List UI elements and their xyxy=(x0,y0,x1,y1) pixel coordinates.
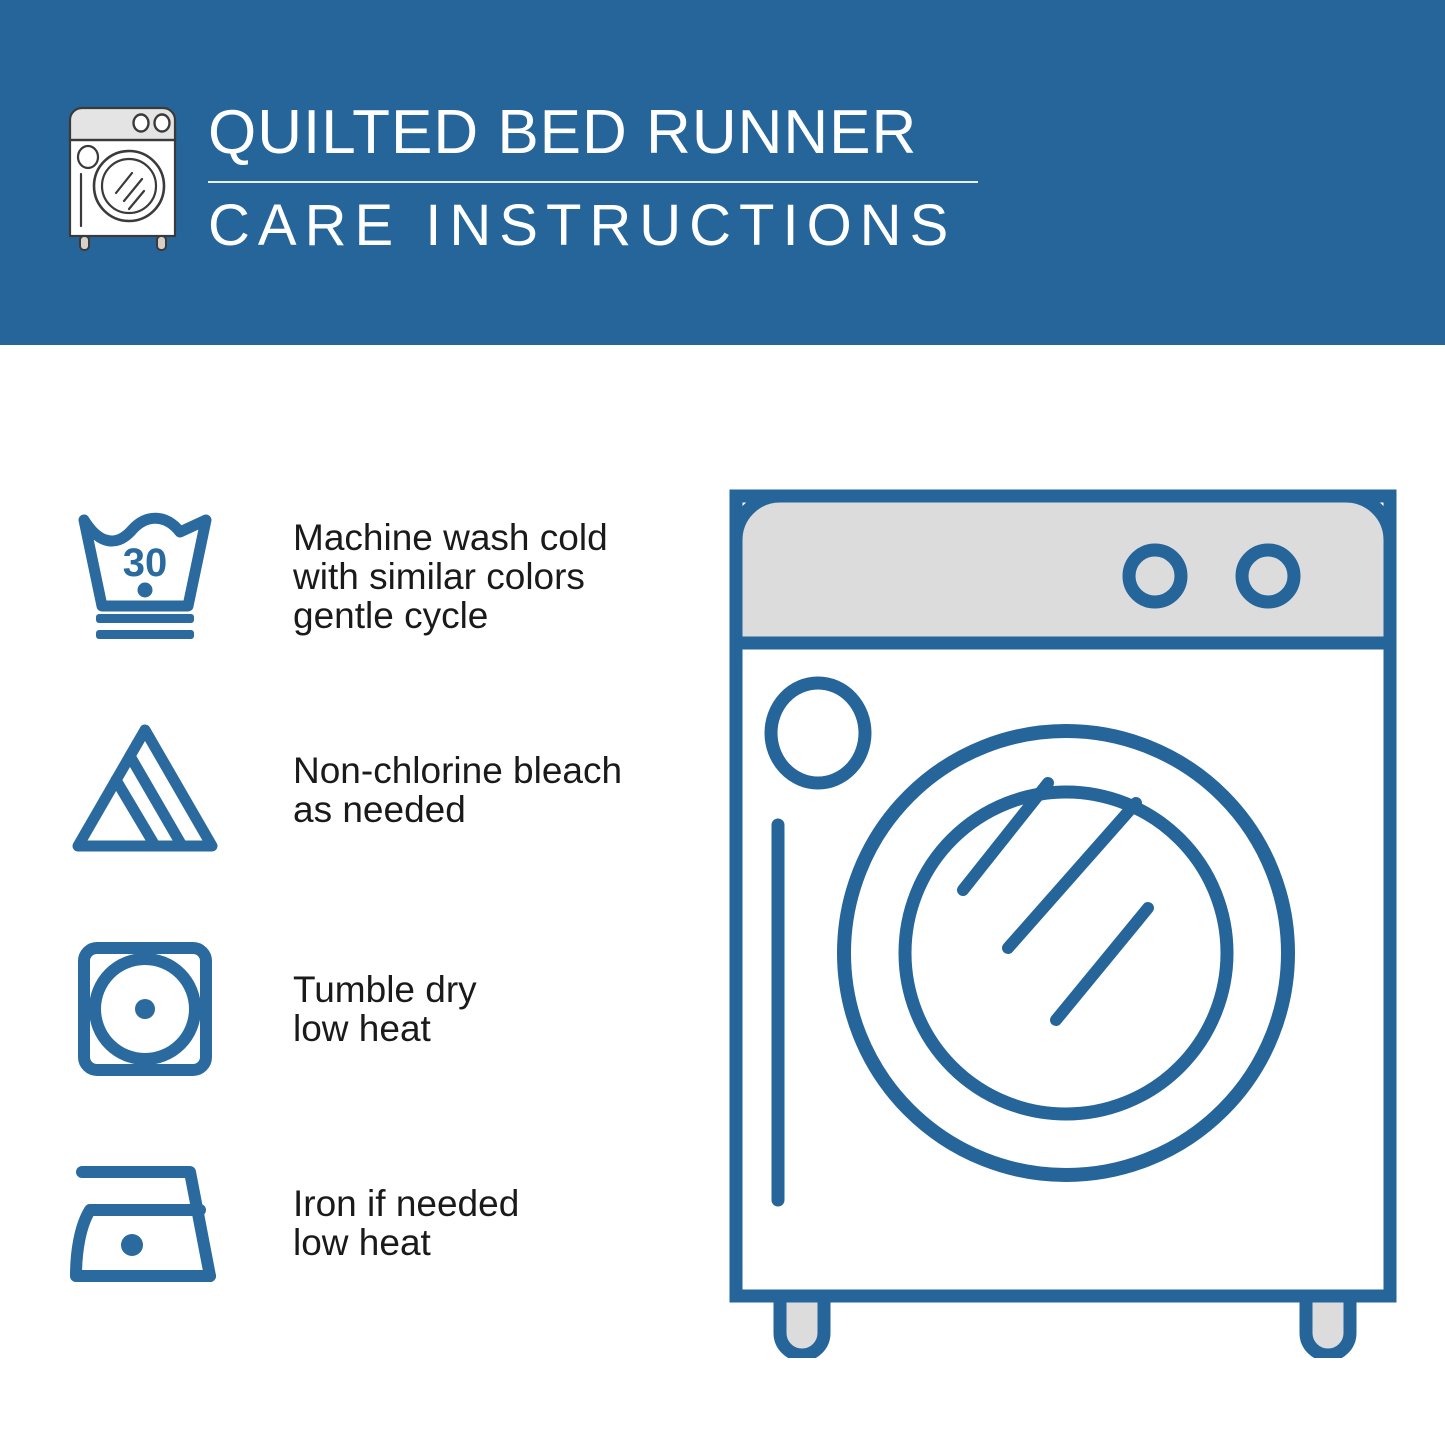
knob-right xyxy=(1242,550,1294,602)
care-instructions-infographic: QUILTED BED RUNNER CARE INSTRUCTIONS 30 … xyxy=(0,0,1445,1445)
header-band: QUILTED BED RUNNER CARE INSTRUCTIONS xyxy=(0,0,1445,345)
title-divider xyxy=(208,181,978,183)
care-line: gentle cycle xyxy=(293,596,608,635)
care-line: Tumble dry xyxy=(293,970,477,1009)
care-text-iron: Iron if needed low heat xyxy=(293,1148,519,1262)
washing-machine-icon xyxy=(62,98,192,258)
care-row-machine-wash: 30 Machine wash cold with similar colors… xyxy=(70,498,630,648)
care-row-iron: Iron if needed low heat xyxy=(70,1148,630,1298)
front-load-washing-machine-illustration xyxy=(718,478,1408,1358)
page-title: QUILTED BED RUNNER xyxy=(208,95,998,171)
care-line: low heat xyxy=(293,1009,477,1048)
care-line: Non-chlorine bleach xyxy=(293,751,622,790)
care-row-bleach: Non-chlorine bleach as needed xyxy=(70,718,630,868)
non-chlorine-bleach-triangle-icon xyxy=(70,718,225,868)
svg-text:30: 30 xyxy=(123,541,168,585)
wash-tub-30-gentle-icon: 30 xyxy=(70,498,225,648)
care-line: as needed xyxy=(293,790,622,829)
knob-left xyxy=(1129,550,1181,602)
tumble-dry-low-icon xyxy=(70,938,225,1088)
care-text-machine-wash: Machine wash cold with similar colors ge… xyxy=(293,498,608,635)
care-row-tumble-dry: Tumble dry low heat xyxy=(70,938,630,1088)
care-line: low heat xyxy=(293,1223,519,1262)
care-line: with similar colors xyxy=(293,557,608,596)
iron-low-heat-icon xyxy=(70,1148,225,1298)
care-text-bleach: Non-chlorine bleach as needed xyxy=(293,718,622,829)
care-line: Iron if needed xyxy=(293,1184,519,1223)
care-text-tumble-dry: Tumble dry low heat xyxy=(293,938,477,1048)
header-text-block: QUILTED BED RUNNER CARE INSTRUCTIONS xyxy=(208,95,998,261)
page-subtitle: CARE INSTRUCTIONS xyxy=(208,191,998,261)
care-line: Machine wash cold xyxy=(293,518,608,557)
